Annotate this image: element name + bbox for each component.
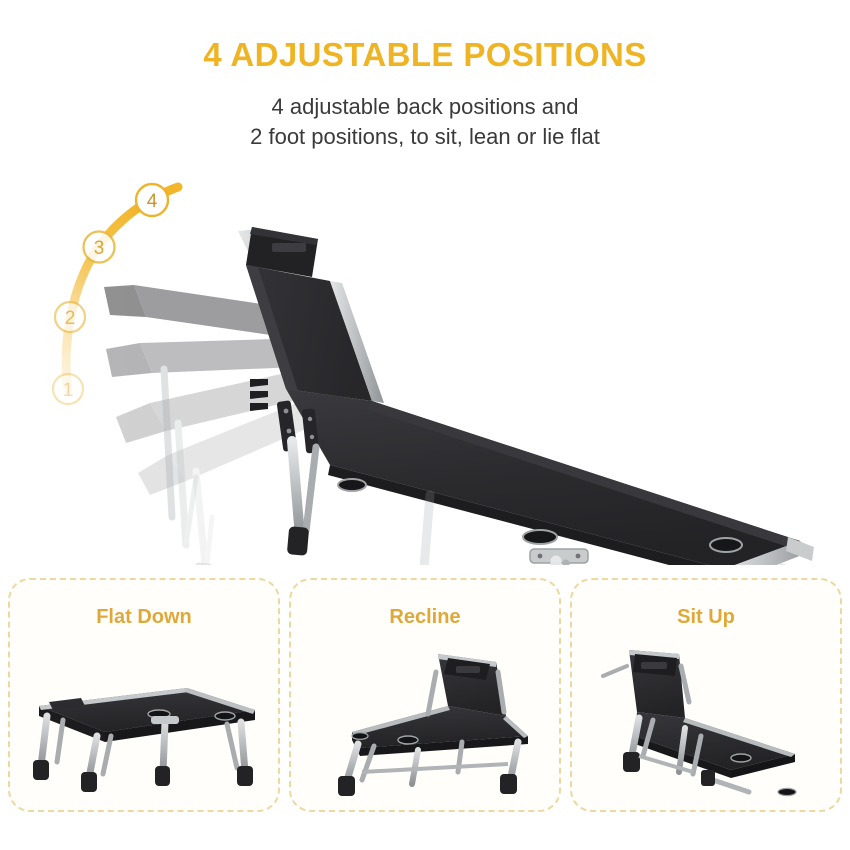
panel-recline-art bbox=[291, 632, 559, 802]
leg-mid-support bbox=[530, 549, 588, 565]
marker-3-label: 3 bbox=[94, 238, 105, 259]
panel-flat-down[interactable]: Flat Down bbox=[8, 578, 280, 812]
panel-sit-up-label: Sit Up bbox=[572, 606, 840, 629]
panel-recline[interactable]: Recline bbox=[289, 578, 561, 812]
hero-illustration: 1 2 3 4 bbox=[0, 165, 850, 565]
position-marker-3: 3 bbox=[84, 232, 115, 263]
leg-head-end bbox=[287, 441, 316, 556]
subtitle-line-2: 2 foot positions, to sit, lean or lie fl… bbox=[0, 122, 850, 152]
position-marker-2: 2 bbox=[55, 302, 85, 332]
subtitle-line-1: 4 adjustable back positions and bbox=[0, 92, 850, 122]
panel-flat-down-art bbox=[10, 632, 278, 802]
panel-flat-down-label: Flat Down bbox=[10, 606, 278, 629]
page-title: 4 ADJUSTABLE POSITIONS bbox=[0, 36, 850, 74]
position-marker-1: 1 bbox=[53, 374, 83, 404]
marker-1-label: 1 bbox=[63, 380, 74, 401]
position-marker-4: 4 bbox=[136, 184, 168, 216]
marker-4-label: 4 bbox=[147, 191, 158, 212]
product-cot-main bbox=[238, 227, 814, 565]
position-panels: Flat Down bbox=[8, 578, 842, 814]
brand-logo-icon bbox=[272, 243, 306, 252]
panel-recline-label: Recline bbox=[291, 606, 559, 629]
ghost-leg bbox=[408, 495, 430, 565]
page-subtitle: 4 adjustable back positions and 2 foot p… bbox=[0, 92, 850, 152]
foot-cap-icon bbox=[287, 526, 309, 556]
grommet-icon bbox=[523, 530, 557, 544]
panel-sit-up[interactable]: Sit Up bbox=[570, 578, 842, 812]
infographic-page: 4 ADJUSTABLE POSITIONS 4 adjustable back… bbox=[0, 0, 850, 850]
grommet-icon bbox=[338, 479, 366, 491]
panel-sit-up-art bbox=[572, 632, 840, 802]
grommet-icon bbox=[710, 538, 742, 552]
marker-2-label: 2 bbox=[65, 308, 76, 329]
